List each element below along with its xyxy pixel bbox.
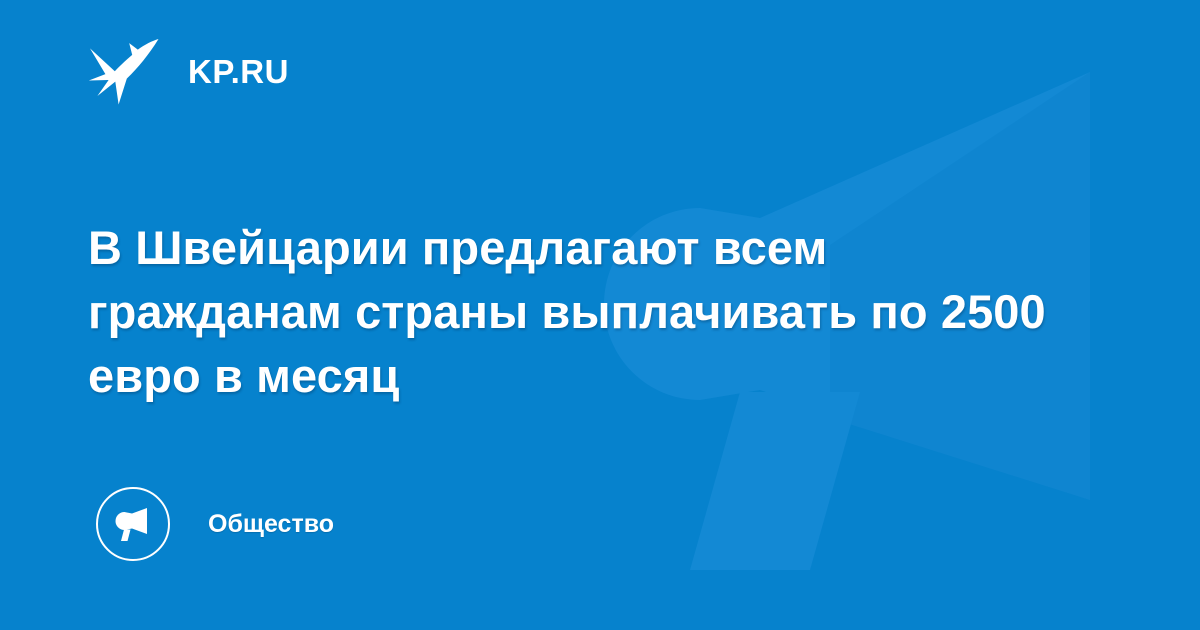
category-icon-circle [96,487,170,561]
social-share-card: KP.RU В Швейцарии предлагают всем гражда… [0,0,1200,630]
megaphone-icon [113,504,153,544]
headline: В Швейцарии предлагают всем гражданам ст… [88,216,1048,408]
brand-logo[interactable]: KP.RU [88,36,289,106]
category-badge[interactable]: Общество [96,486,334,562]
category-label: Общество [208,512,334,537]
swallow-bird-icon [88,36,164,106]
brand-name: KP.RU [188,55,289,88]
